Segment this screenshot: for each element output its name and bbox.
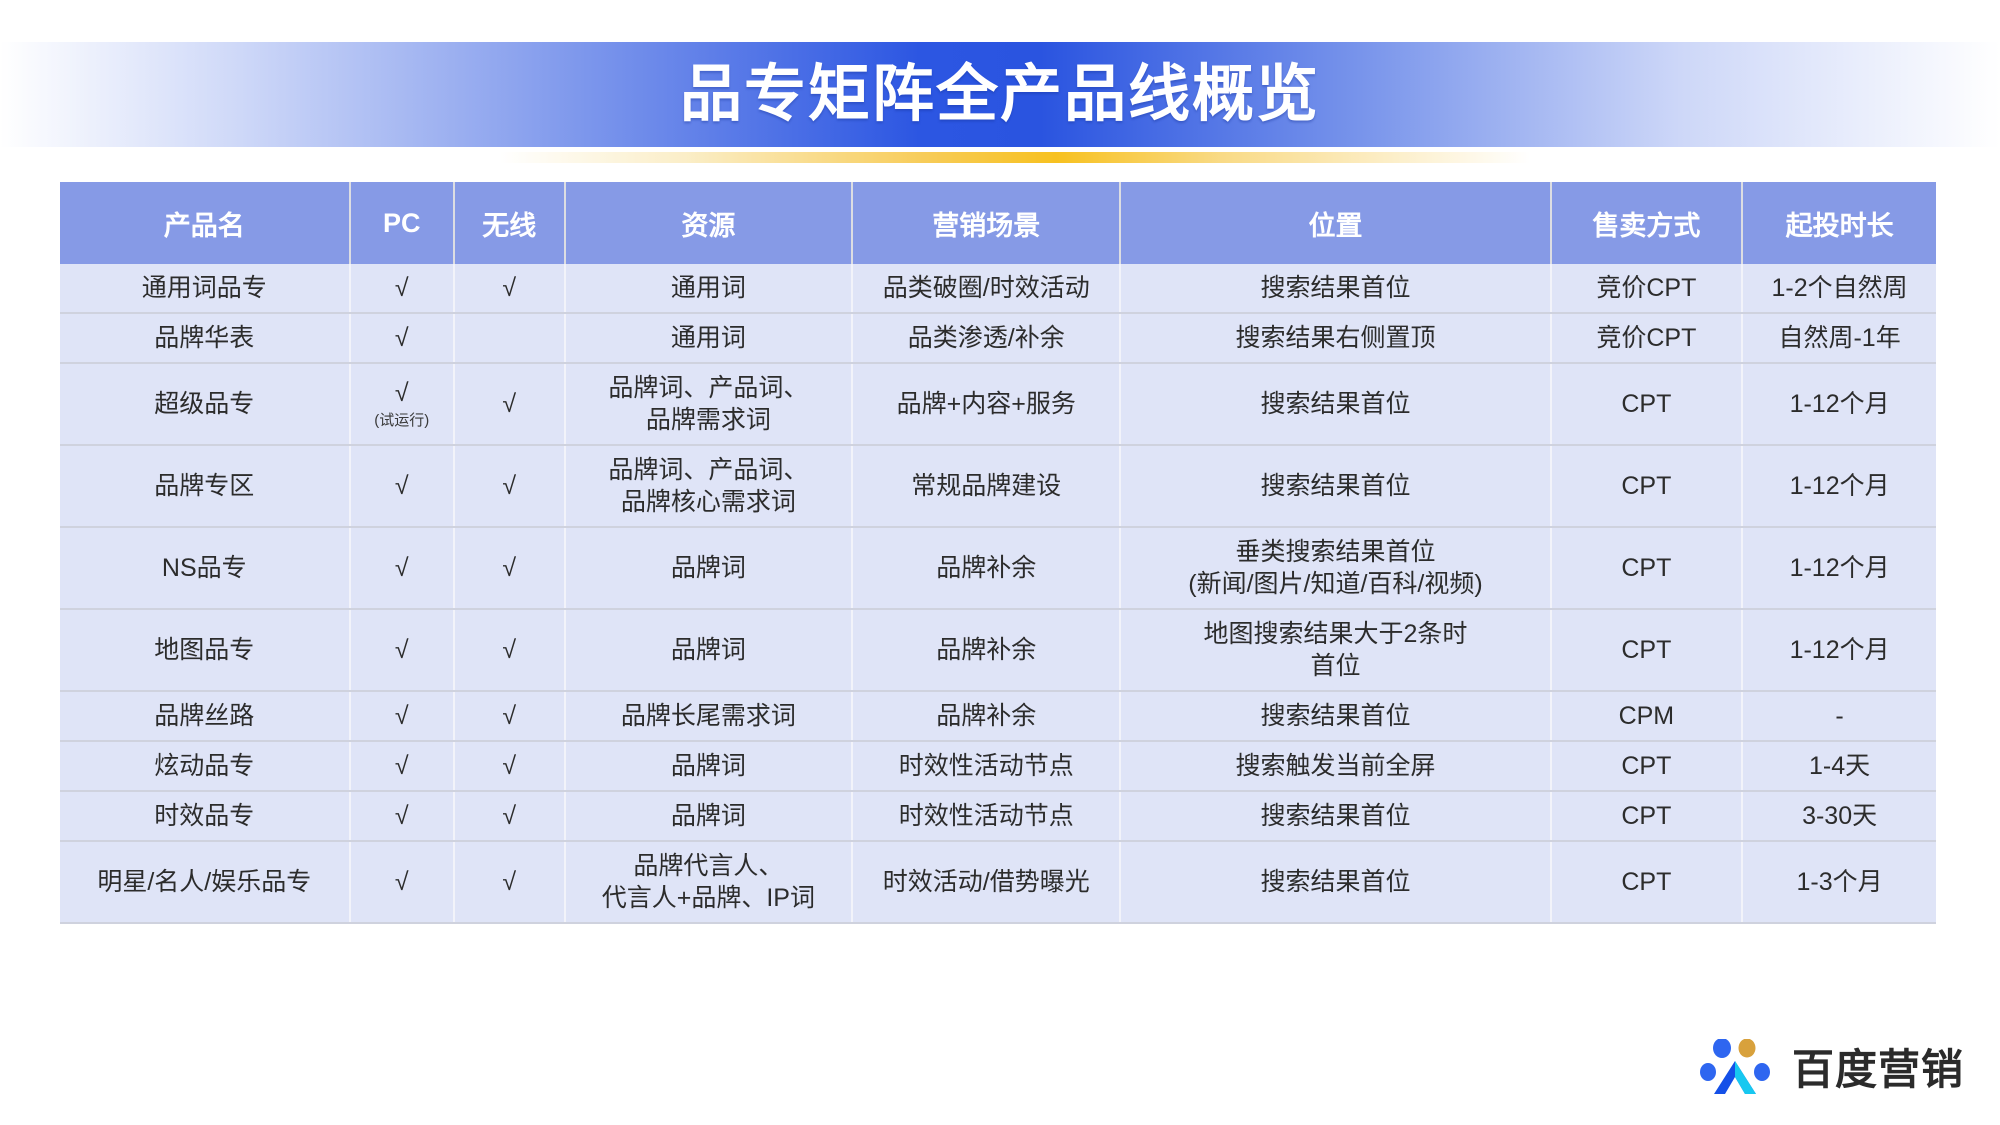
cell-line: (新闻/图片/知道/百科/视频) bbox=[1127, 568, 1543, 600]
cell-line: 搜索结果首位 bbox=[1127, 470, 1543, 502]
cell-resource: 品牌词 bbox=[565, 791, 852, 841]
table-row: 时效品专√√品牌词时效性活动节点搜索结果首位CPT3-30天 bbox=[60, 791, 1936, 841]
page-title: 品专矩阵全产品线概览 bbox=[680, 64, 1320, 126]
cell-duration: 1-4天 bbox=[1742, 741, 1936, 791]
cell-sale-method: CPT bbox=[1551, 841, 1743, 923]
cell-scene: 品牌补余 bbox=[852, 609, 1120, 691]
cell-product-name: 通用词品专 bbox=[60, 264, 350, 313]
cell-scene: 品牌+内容+服务 bbox=[852, 363, 1120, 445]
cell-resource: 品牌代言人、代言人+品牌、IP词 bbox=[565, 841, 852, 923]
cell-position: 搜索结果首位 bbox=[1120, 791, 1550, 841]
cell-resource: 品牌长尾需求词 bbox=[565, 691, 852, 741]
baidu-paw-icon bbox=[1700, 1039, 1778, 1101]
cell-product-name: NS品专 bbox=[60, 527, 350, 609]
cell-duration: 3-30天 bbox=[1742, 791, 1936, 841]
cell-scene: 品牌补余 bbox=[852, 691, 1120, 741]
cell-product-name: 明星/名人/娱乐品专 bbox=[60, 841, 350, 923]
cell-line: 垂类搜索结果首位 bbox=[1127, 536, 1543, 568]
cell-duration: 1-3个月 bbox=[1742, 841, 1936, 923]
cell-product-name: 时效品专 bbox=[60, 791, 350, 841]
cell-pc-support: √ bbox=[350, 691, 454, 741]
cell-sale-method: CPT bbox=[1551, 363, 1743, 445]
column-header-scene: 营销场景 bbox=[852, 182, 1120, 264]
cell-position: 搜索结果首位 bbox=[1120, 445, 1550, 527]
cell-product-name: 炫动品专 bbox=[60, 741, 350, 791]
cell-line: 品类渗透/补余 bbox=[859, 322, 1113, 354]
cell-scene: 时效活动/借势曝光 bbox=[852, 841, 1120, 923]
column-header-pc: PC bbox=[350, 182, 454, 264]
cell-line: 地图搜索结果大于2条时 bbox=[1127, 618, 1543, 650]
column-header-product: 产品名 bbox=[60, 182, 350, 264]
table-row: NS品专√√品牌词品牌补余垂类搜索结果首位(新闻/图片/知道/百科/视频)CPT… bbox=[60, 527, 1936, 609]
cell-position: 搜索结果首位 bbox=[1120, 264, 1550, 313]
cell-position: 搜索触发当前全屏 bbox=[1120, 741, 1550, 791]
cell-line: 搜索结果首位 bbox=[1127, 272, 1543, 304]
table-row: 明星/名人/娱乐品专√√品牌代言人、代言人+品牌、IP词时效活动/借势曝光搜索结… bbox=[60, 841, 1936, 923]
cell-sale-method: CPT bbox=[1551, 791, 1743, 841]
cell-position: 地图搜索结果大于2条时首位 bbox=[1120, 609, 1550, 691]
cell-product-name: 地图品专 bbox=[60, 609, 350, 691]
cell-line: 品类破圈/时效活动 bbox=[859, 272, 1113, 304]
cell-scene: 品类破圈/时效活动 bbox=[852, 264, 1120, 313]
cell-duration: 1-12个月 bbox=[1742, 445, 1936, 527]
product-matrix-table: 产品名 PC 无线 资源 营销场景 位置 售卖方式 起投时长 通用词品专√√通用… bbox=[60, 182, 1936, 924]
cell-mobile-support: √ bbox=[454, 609, 565, 691]
column-header-mobile: 无线 bbox=[454, 182, 565, 264]
cell-mobile-support: √ bbox=[454, 741, 565, 791]
column-header-duration: 起投时长 bbox=[1742, 182, 1936, 264]
cell-line: 品牌词、产品词、 bbox=[572, 454, 845, 486]
cell-sale-method: 竞价CPT bbox=[1551, 264, 1743, 313]
cell-line: 品牌+内容+服务 bbox=[859, 388, 1113, 420]
cell-scene: 品类渗透/补余 bbox=[852, 313, 1120, 363]
cell-product-name: 品牌专区 bbox=[60, 445, 350, 527]
cell-position: 搜索结果首位 bbox=[1120, 841, 1550, 923]
cell-duration: 1-12个月 bbox=[1742, 527, 1936, 609]
cell-line: 时效性活动节点 bbox=[859, 750, 1113, 782]
cell-line: 搜索触发当前全屏 bbox=[1127, 750, 1543, 782]
cell-mobile-support: √ bbox=[454, 691, 565, 741]
cell-pc-support: √(试运行) bbox=[350, 363, 454, 445]
cell-line: 品牌补余 bbox=[859, 700, 1113, 732]
cell-mobile-support: √ bbox=[454, 363, 565, 445]
cell-position: 搜索结果首位 bbox=[1120, 691, 1550, 741]
cell-sale-method: CPT bbox=[1551, 445, 1743, 527]
cell-line: 品牌核心需求词 bbox=[572, 486, 845, 518]
cell-duration: 1-12个月 bbox=[1742, 609, 1936, 691]
product-matrix-table-wrapper: 产品名 PC 无线 资源 营销场景 位置 售卖方式 起投时长 通用词品专√√通用… bbox=[60, 182, 1936, 924]
cell-line: 品牌补余 bbox=[859, 552, 1113, 584]
cell-line: 通用词 bbox=[572, 322, 845, 354]
cell-line: 搜索结果首位 bbox=[1127, 388, 1543, 420]
column-header-position: 位置 bbox=[1120, 182, 1550, 264]
cell-pc-support: √ bbox=[350, 791, 454, 841]
cell-mobile-support: √ bbox=[454, 791, 565, 841]
cell-line: 常规品牌建设 bbox=[859, 470, 1113, 502]
cell-position: 垂类搜索结果首位(新闻/图片/知道/百科/视频) bbox=[1120, 527, 1550, 609]
cell-product-name: 品牌丝路 bbox=[60, 691, 350, 741]
cell-position: 搜索结果首位 bbox=[1120, 363, 1550, 445]
cell-resource: 品牌词 bbox=[565, 609, 852, 691]
cell-duration: 自然周-1年 bbox=[1742, 313, 1936, 363]
gold-accent-rule bbox=[500, 152, 1530, 163]
cell-duration: 1-2个自然周 bbox=[1742, 264, 1936, 313]
cell-product-name: 品牌华表 bbox=[60, 313, 350, 363]
cell-line: 通用词 bbox=[572, 272, 845, 304]
cell-pc-support: √ bbox=[350, 264, 454, 313]
table-row: 超级品专√(试运行)√品牌词、产品词、品牌需求词品牌+内容+服务搜索结果首位CP… bbox=[60, 363, 1936, 445]
cell-line: 时效性活动节点 bbox=[859, 800, 1113, 832]
table-row: 品牌丝路√√品牌长尾需求词品牌补余搜索结果首位CPM- bbox=[60, 691, 1936, 741]
cell-resource: 品牌词 bbox=[565, 741, 852, 791]
table-row: 炫动品专√√品牌词时效性活动节点搜索触发当前全屏CPT1-4天 bbox=[60, 741, 1936, 791]
pc-trial-note: (试运行) bbox=[357, 411, 447, 430]
cell-line: 品牌词 bbox=[572, 634, 845, 666]
cell-mobile-support: √ bbox=[454, 445, 565, 527]
cell-sale-method: 竞价CPT bbox=[1551, 313, 1743, 363]
cell-line: 品牌补余 bbox=[859, 634, 1113, 666]
cell-line: 搜索结果首位 bbox=[1127, 700, 1543, 732]
cell-mobile-support: √ bbox=[454, 841, 565, 923]
cell-resource: 品牌词、产品词、品牌核心需求词 bbox=[565, 445, 852, 527]
cell-sale-method: CPT bbox=[1551, 741, 1743, 791]
table-row: 品牌专区√√品牌词、产品词、品牌核心需求词常规品牌建设搜索结果首位CPT1-12… bbox=[60, 445, 1936, 527]
cell-scene: 时效性活动节点 bbox=[852, 741, 1120, 791]
cell-scene: 时效性活动节点 bbox=[852, 791, 1120, 841]
baidu-marketing-logo-text: 百度营销 bbox=[1792, 1049, 1964, 1091]
cell-pc-support: √ bbox=[350, 741, 454, 791]
cell-line: 搜索结果首位 bbox=[1127, 866, 1543, 898]
cell-duration: - bbox=[1742, 691, 1936, 741]
baidu-marketing-logo: 百度营销 bbox=[1700, 1039, 1964, 1101]
cell-scene: 常规品牌建设 bbox=[852, 445, 1120, 527]
cell-line: 品牌代言人、 bbox=[572, 850, 845, 882]
cell-pc-support: √ bbox=[350, 527, 454, 609]
cell-scene: 品牌补余 bbox=[852, 527, 1120, 609]
cell-resource: 品牌词 bbox=[565, 527, 852, 609]
cell-product-name: 超级品专 bbox=[60, 363, 350, 445]
cell-sale-method: CPM bbox=[1551, 691, 1743, 741]
cell-resource: 通用词 bbox=[565, 264, 852, 313]
cell-line: 品牌词、产品词、 bbox=[572, 372, 845, 404]
cell-pc-support: √ bbox=[350, 841, 454, 923]
column-header-sale: 售卖方式 bbox=[1551, 182, 1743, 264]
cell-line: 首位 bbox=[1127, 650, 1543, 682]
cell-pc-support: √ bbox=[350, 445, 454, 527]
cell-sale-method: CPT bbox=[1551, 527, 1743, 609]
cell-line: 品牌需求词 bbox=[572, 404, 845, 436]
title-banner: 品专矩阵全产品线概览 bbox=[0, 42, 2000, 147]
cell-line: 品牌词 bbox=[572, 750, 845, 782]
table-row: 地图品专√√品牌词品牌补余地图搜索结果大于2条时首位CPT1-12个月 bbox=[60, 609, 1936, 691]
cell-resource: 品牌词、产品词、品牌需求词 bbox=[565, 363, 852, 445]
column-header-resource: 资源 bbox=[565, 182, 852, 264]
table-header-row: 产品名 PC 无线 资源 营销场景 位置 售卖方式 起投时长 bbox=[60, 182, 1936, 264]
cell-resource: 通用词 bbox=[565, 313, 852, 363]
cell-line: 代言人+品牌、IP词 bbox=[572, 882, 845, 914]
cell-line: 品牌词 bbox=[572, 800, 845, 832]
cell-pc-support: √ bbox=[350, 609, 454, 691]
table-row: 通用词品专√√通用词品类破圈/时效活动搜索结果首位竞价CPT1-2个自然周 bbox=[60, 264, 1936, 313]
cell-mobile-support: √ bbox=[454, 527, 565, 609]
cell-line: 品牌长尾需求词 bbox=[572, 700, 845, 732]
cell-line: 时效活动/借势曝光 bbox=[859, 866, 1113, 898]
cell-mobile-support bbox=[454, 313, 565, 363]
table-row: 品牌华表√通用词品类渗透/补余搜索结果右侧置顶竞价CPT自然周-1年 bbox=[60, 313, 1936, 363]
cell-line: 搜索结果右侧置顶 bbox=[1127, 322, 1543, 354]
cell-line: 品牌词 bbox=[572, 552, 845, 584]
cell-sale-method: CPT bbox=[1551, 609, 1743, 691]
cell-position: 搜索结果右侧置顶 bbox=[1120, 313, 1550, 363]
cell-duration: 1-12个月 bbox=[1742, 363, 1936, 445]
cell-line: 搜索结果首位 bbox=[1127, 800, 1543, 832]
cell-mobile-support: √ bbox=[454, 264, 565, 313]
cell-pc-support: √ bbox=[350, 313, 454, 363]
